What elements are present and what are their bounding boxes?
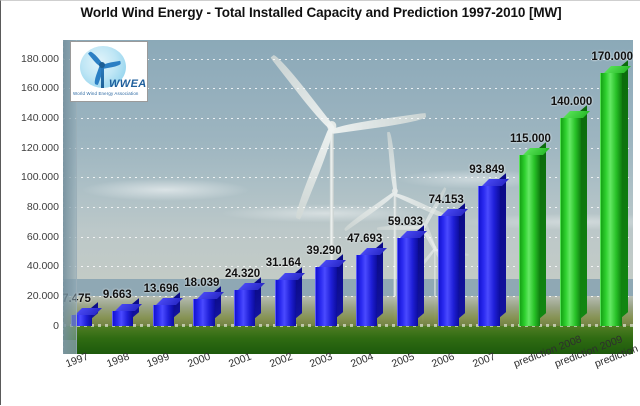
- bar-2006[interactable]: [438, 209, 458, 326]
- bar-2007[interactable]: [478, 179, 498, 325]
- gridline: [63, 296, 633, 297]
- x-axis-tick: 2007: [471, 351, 497, 371]
- y-axis-tick: 100.000: [3, 171, 59, 183]
- bar-value-label: 13.696: [144, 283, 179, 295]
- bar-2004[interactable]: [356, 248, 376, 326]
- bar-value-label: 47.693: [347, 233, 382, 245]
- gridline: [63, 207, 633, 208]
- bar-prediction-2008[interactable]: [519, 148, 539, 326]
- x-axis-tick: 1997: [64, 351, 90, 371]
- bar-front-face: [519, 155, 540, 326]
- bar-front-face: [112, 311, 133, 325]
- bar-value-label: 93.849: [469, 164, 504, 176]
- bar-value-label: 39.290: [306, 245, 341, 257]
- x-axis-tick: 2000: [186, 351, 212, 371]
- y-axis-tick: 20.000: [3, 290, 59, 302]
- bar-2002[interactable]: [275, 273, 295, 326]
- bar-front-face: [560, 118, 581, 326]
- x-axis-tick: 1999: [145, 351, 171, 371]
- y-axis-tick: 120.000: [3, 142, 59, 154]
- gridline: [63, 118, 633, 119]
- logo-acronym: WWEA: [109, 78, 147, 90]
- x-axis-tick: 2003: [308, 351, 334, 371]
- gridline: [63, 266, 633, 267]
- bar-front-face: [234, 290, 255, 326]
- bar-value-label: 24.320: [225, 268, 260, 280]
- bar-front-face: [397, 238, 418, 326]
- bar-front-face: [356, 255, 377, 326]
- x-axis-tick: 2005: [390, 351, 416, 371]
- wwea-logo: WWEA World Wind Energy Association: [70, 41, 148, 102]
- gridline: [63, 59, 633, 60]
- x-axis-tick: 1998: [105, 351, 131, 371]
- bar-prediction-2009[interactable]: [560, 111, 580, 326]
- bar-front-face: [438, 216, 459, 326]
- bar-2000[interactable]: [193, 292, 213, 326]
- bar-side-face: [499, 174, 506, 319]
- y-axis: 020.00040.00060.00080.000100.000120.0001…: [1, 1, 59, 406]
- y-axis-tick: 60.000: [3, 231, 59, 243]
- bar-front-face: [153, 305, 174, 325]
- y-axis-tick: 160.000: [3, 82, 59, 94]
- bar-prediction-2010[interactable]: [600, 66, 620, 325]
- bar-value-label: 115.000: [510, 133, 551, 145]
- x-axis-tick: 2004: [349, 351, 375, 371]
- gridline: [63, 177, 633, 178]
- y-axis-tick: 40.000: [3, 260, 59, 272]
- logo-subtitle: World Wind Energy Association: [73, 91, 145, 96]
- bar-value-label: 9.663: [103, 289, 132, 301]
- bar-side-face: [417, 225, 424, 318]
- bar-side-face: [580, 105, 587, 319]
- x-axis-tick: 2001: [227, 351, 253, 371]
- x-axis-tick: 2006: [430, 351, 456, 371]
- bar-2001[interactable]: [234, 283, 254, 326]
- bar-front-face: [315, 267, 336, 325]
- bar-front-face: [478, 186, 499, 325]
- x-axis: 1997199819992000200120022003200420052006…: [1, 353, 640, 406]
- wind-energy-chart: World Wind Energy - Total Installed Capa…: [0, 0, 640, 405]
- logo-turbine-hub: [99, 62, 105, 68]
- x-axis-tick: 2002: [268, 351, 294, 371]
- bar-2005[interactable]: [397, 231, 417, 326]
- background-photo-horizon: [63, 296, 633, 327]
- bar-1998[interactable]: [112, 304, 132, 325]
- bar-2003[interactable]: [315, 260, 335, 325]
- bar-value-label: 59.033: [388, 216, 423, 228]
- plot-area: 7.4759.66313.69618.03924.32031.16439.290…: [63, 40, 633, 354]
- y-axis-tick: 140.000: [3, 112, 59, 124]
- bar-value-label: 18.039: [184, 277, 219, 289]
- bar-side-face: [539, 142, 546, 319]
- chart-floor-plate: [63, 340, 77, 354]
- y-axis-tick: 0: [3, 320, 59, 332]
- bar-side-face: [214, 286, 221, 319]
- bar-1999[interactable]: [153, 298, 173, 325]
- y-axis-tick: 180.000: [3, 53, 59, 65]
- bar-value-label: 74.153: [429, 194, 464, 206]
- bar-value-label: 31.164: [266, 257, 301, 269]
- bar-value-label: 140.000: [551, 96, 593, 108]
- gridline: [63, 88, 633, 89]
- bar-front-face: [600, 73, 621, 325]
- bar-value-label: 170.000: [591, 51, 633, 63]
- y-axis-tick: 80.000: [3, 201, 59, 213]
- bar-front-face: [275, 280, 296, 326]
- bar-side-face: [458, 203, 465, 319]
- bar-front-face: [193, 299, 214, 326]
- chart-title: World Wind Energy - Total Installed Capa…: [1, 5, 640, 20]
- bar-side-face: [621, 61, 628, 319]
